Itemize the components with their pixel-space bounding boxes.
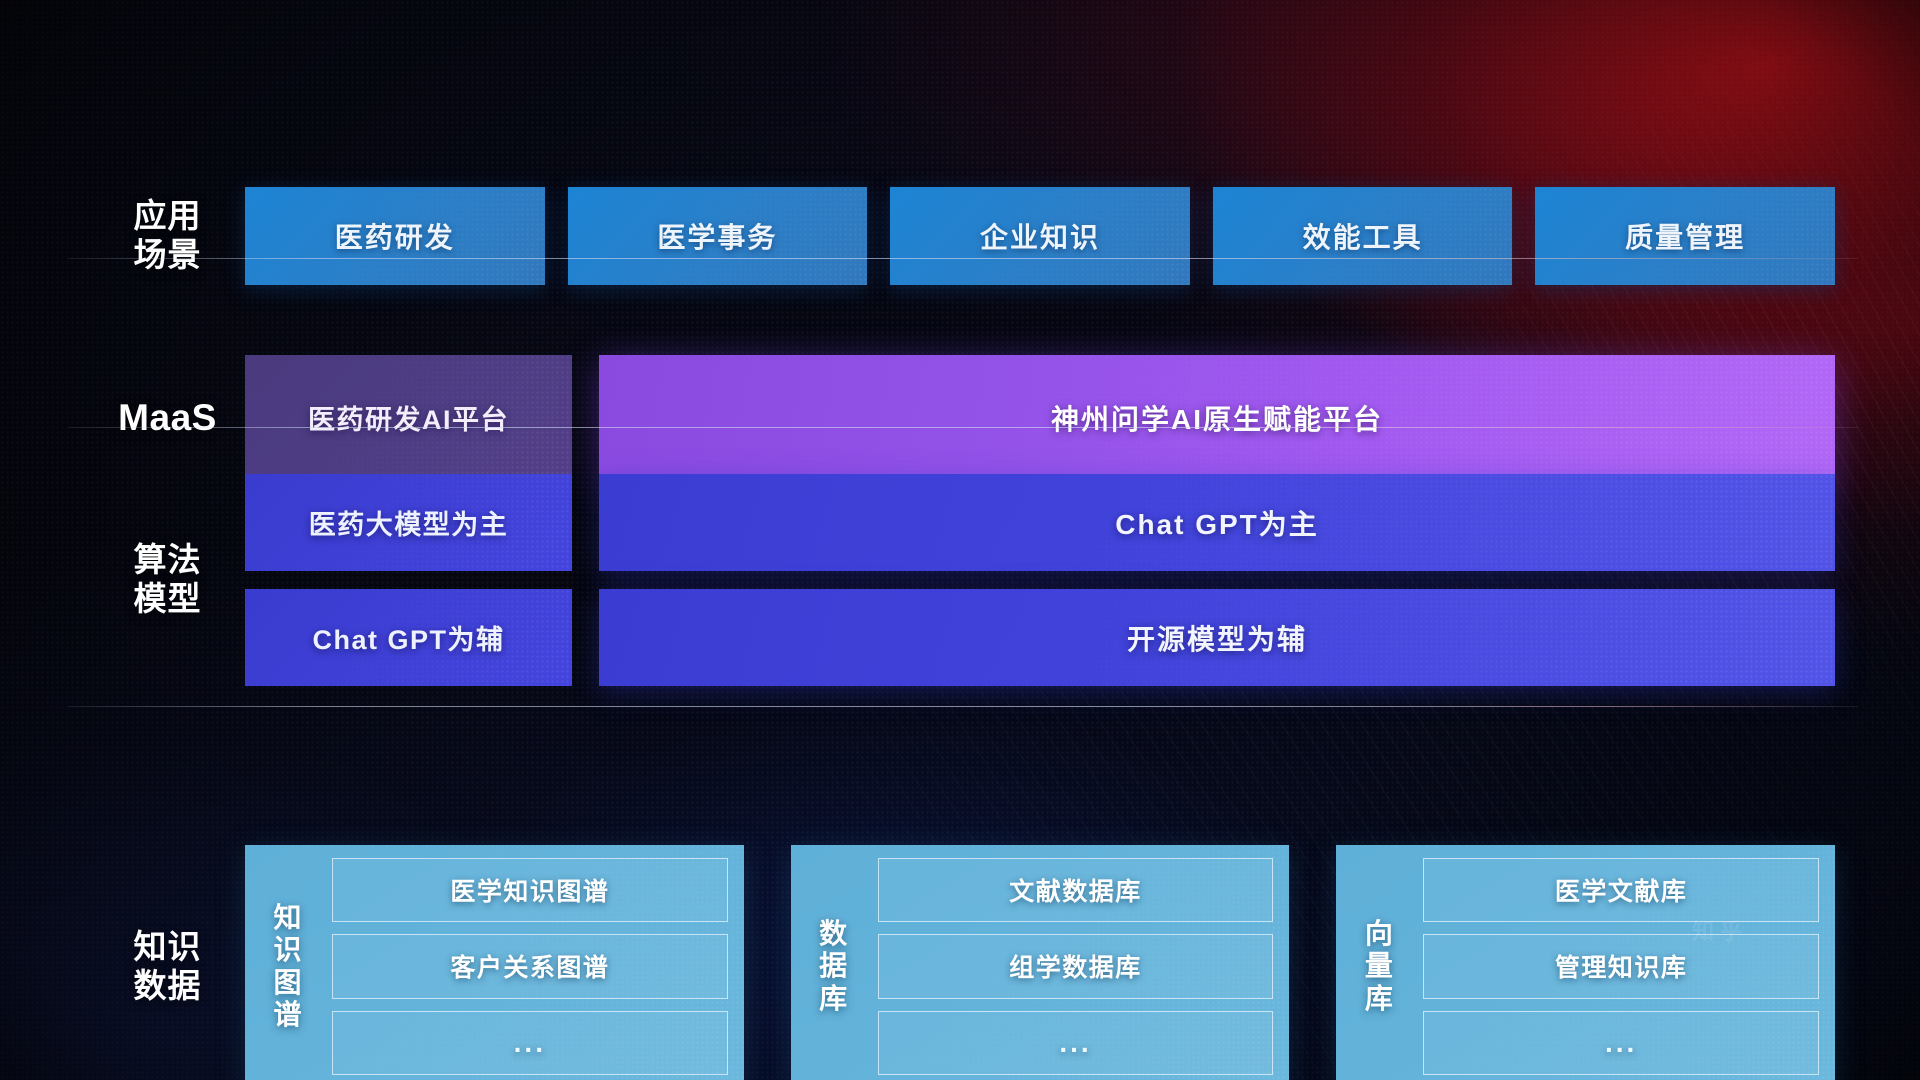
- application-card-label: 医药研发: [335, 216, 455, 256]
- row-algorithm-model: 算法 模型 医药大模型为主 Chat GPT为主 Chat GPT为辅 开源模型…: [90, 460, 1835, 700]
- application-card[interactable]: 企业知识: [890, 187, 1190, 285]
- knowledge-panel: 知 识 图 谱 医学知识图谱 客户关系图谱 ...: [245, 845, 744, 1080]
- divider-maas-algorithm: [68, 427, 1858, 428]
- knowledge-item[interactable]: 医学知识图谱: [332, 858, 728, 922]
- knowledge-panel-title: 知 识 图 谱: [258, 858, 318, 1075]
- algorithm-card-left[interactable]: Chat GPT为辅: [245, 589, 572, 686]
- row-knowledge-data: 知识 数据 知 识 图 谱 医学知识图谱 客户关系图谱 ... 数 据 库: [90, 845, 1835, 1080]
- algorithm-card-right[interactable]: Chat GPT为主: [599, 474, 1835, 571]
- algorithm-card-label: Chat GPT为主: [1115, 503, 1319, 543]
- application-card-label: 医学事务: [657, 216, 777, 256]
- knowledge-item[interactable]: 组学数据库: [878, 934, 1274, 998]
- algorithm-card-label: 医药大模型为主: [309, 503, 509, 542]
- algorithm-card-left[interactable]: 医药大模型为主: [245, 474, 572, 571]
- row-label-application: 应用 场景: [90, 197, 245, 275]
- knowledge-item[interactable]: 文献数据库: [878, 858, 1274, 922]
- application-card-grid: 医药研发 医学事务 企业知识 效能工具 质量管理: [245, 187, 1835, 285]
- knowledge-item-list: 医学文献库 管理知识库 ...: [1423, 858, 1819, 1075]
- knowledge-item-more[interactable]: ...: [878, 1011, 1274, 1075]
- knowledge-item-more[interactable]: ...: [1423, 1011, 1819, 1075]
- knowledge-item-list: 文献数据库 组学数据库 ...: [878, 858, 1274, 1075]
- architecture-diagram-slide: 应用 场景 医药研发 医学事务 企业知识 效能工具 质量管理 MaaS 医药研发…: [0, 0, 1920, 1080]
- application-card[interactable]: 质量管理: [1535, 187, 1835, 285]
- algorithm-line: 医药大模型为主 Chat GPT为主: [245, 474, 1835, 571]
- algorithm-card-right[interactable]: 开源模型为辅: [599, 589, 1835, 686]
- algorithm-card-label: Chat GPT为辅: [312, 618, 504, 657]
- knowledge-panel-grid: 知 识 图 谱 医学知识图谱 客户关系图谱 ... 数 据 库 文献数据库 组学…: [245, 845, 1835, 1080]
- application-card-label: 质量管理: [1625, 216, 1745, 256]
- knowledge-item[interactable]: 管理知识库: [1423, 934, 1819, 998]
- application-card-label: 效能工具: [1303, 216, 1423, 256]
- algorithm-line: Chat GPT为辅 开源模型为辅: [245, 589, 1835, 686]
- row-label-algorithm: 算法 模型: [90, 541, 245, 619]
- algorithm-card-label: 开源模型为辅: [1127, 618, 1307, 658]
- application-card[interactable]: 医药研发: [245, 187, 545, 285]
- divider-algorithm-knowledge: [68, 706, 1858, 707]
- knowledge-panel-title: 数 据 库: [804, 858, 864, 1075]
- row-label-knowledge: 知识 数据: [90, 928, 245, 1006]
- maas-platform-label: 医药研发AI平台: [308, 398, 509, 437]
- knowledge-panel: 数 据 库 文献数据库 组学数据库 ...: [791, 845, 1290, 1080]
- application-card-label: 企业知识: [980, 216, 1100, 256]
- application-card[interactable]: 医学事务: [568, 187, 868, 285]
- maas-platform-label: 神州问学AI原生赋能平台: [1051, 398, 1383, 438]
- knowledge-panel-title: 向 量 库: [1349, 858, 1409, 1075]
- divider-application-maas: [68, 258, 1858, 259]
- application-card[interactable]: 效能工具: [1213, 187, 1513, 285]
- knowledge-item[interactable]: 客户关系图谱: [332, 934, 728, 998]
- algorithm-card-stack: 医药大模型为主 Chat GPT为主 Chat GPT为辅 开源模型为辅: [245, 474, 1835, 686]
- knowledge-item-list: 医学知识图谱 客户关系图谱 ...: [332, 858, 728, 1075]
- knowledge-item-more[interactable]: ...: [332, 1011, 728, 1075]
- row-application-scenarios: 应用 场景 医药研发 医学事务 企业知识 效能工具 质量管理: [90, 187, 1835, 285]
- knowledge-item[interactable]: 医学文献库: [1423, 858, 1819, 922]
- knowledge-panel: 向 量 库 医学文献库 管理知识库 ...: [1336, 845, 1835, 1080]
- row-label-maas: MaaS: [90, 396, 245, 440]
